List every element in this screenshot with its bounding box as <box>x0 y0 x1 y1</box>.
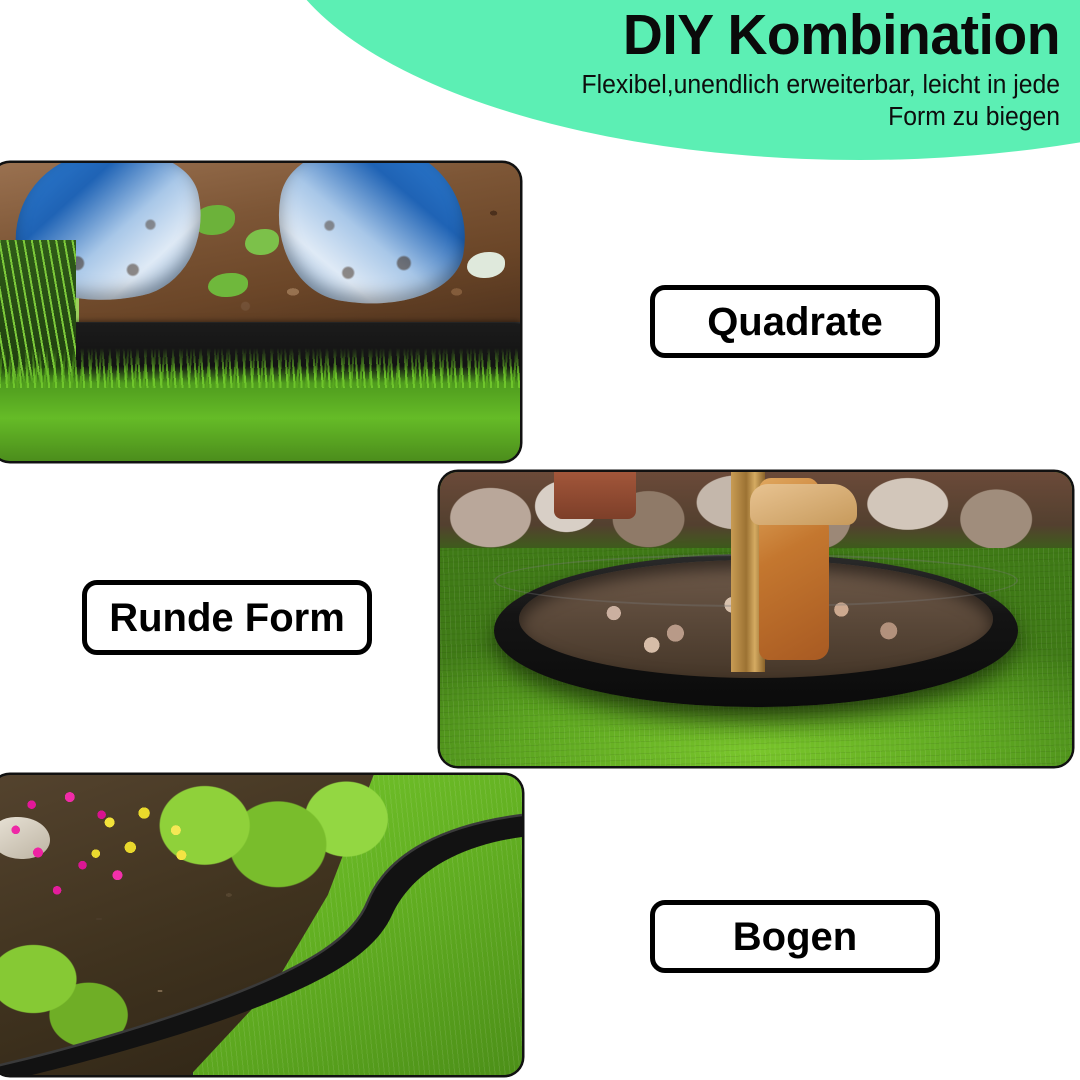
curved-black-edging <box>0 775 522 1075</box>
page-subtitle: Flexibel,unendlich erweiterbar, leicht i… <box>439 69 1060 133</box>
photo-curved-edging <box>0 775 522 1075</box>
photo-curve-content <box>0 775 522 1075</box>
foreground-grass <box>0 366 520 461</box>
photo-planting-square-bed <box>0 163 520 461</box>
label-runde-form-text: Runde Form <box>109 598 345 638</box>
photo-planting-content <box>0 163 520 461</box>
infographic-canvas: DIY Kombination Flexibel,unendlich erwei… <box>0 0 1080 1080</box>
edging-band <box>0 815 522 1075</box>
label-quadrate: Quadrate <box>650 285 940 358</box>
page-subtitle-line2: Form zu biegen <box>439 101 1060 133</box>
terracotta-pot <box>554 472 636 519</box>
page-title: DIY Kombination <box>439 6 1060 64</box>
photo-round-edging-ring <box>440 472 1072 766</box>
ornament-top <box>750 484 857 525</box>
label-quadrate-text: Quadrate <box>707 302 883 342</box>
label-bogen-text: Bogen <box>733 917 857 957</box>
label-bogen: Bogen <box>650 900 940 973</box>
photo-round-content <box>440 472 1072 766</box>
page-subtitle-line1: Flexibel,unendlich erweiterbar, leicht i… <box>439 69 1060 101</box>
label-runde-form: Runde Form <box>82 580 372 655</box>
header-text-block: DIY Kombination Flexibel,unendlich erwei… <box>420 6 1060 133</box>
